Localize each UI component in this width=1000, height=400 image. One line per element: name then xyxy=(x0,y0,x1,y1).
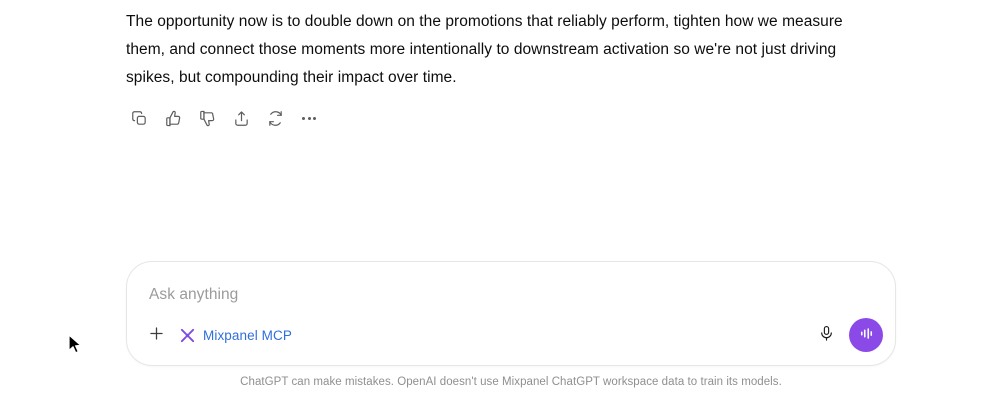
share-icon xyxy=(233,110,250,127)
regenerate-icon xyxy=(267,110,284,127)
composer-right-controls xyxy=(812,318,883,352)
thumbs-down-icon xyxy=(199,110,216,127)
voice-mode-button[interactable] xyxy=(849,318,883,352)
composer-left-controls: Mixpanel MCP xyxy=(141,320,300,350)
plus-icon xyxy=(147,324,166,346)
share-button[interactable] xyxy=(228,105,254,131)
footer-disclaimer: ChatGPT can make mistakes. OpenAI doesn'… xyxy=(126,376,896,388)
connector-chip-label: Mixpanel MCP xyxy=(203,328,292,343)
more-options-button[interactable] xyxy=(296,105,322,131)
mouse-cursor-icon xyxy=(68,334,84,356)
composer-toolbar: Mixpanel MCP xyxy=(141,315,883,355)
assistant-message: The opportunity now is to double down on… xyxy=(126,8,886,92)
mixpanel-logo-icon xyxy=(179,327,196,344)
microphone-icon xyxy=(818,325,835,345)
copy-button[interactable] xyxy=(126,105,152,131)
add-attachment-button[interactable] xyxy=(141,320,171,350)
assistant-message-text: The opportunity now is to double down on… xyxy=(126,8,886,92)
connector-chip-mixpanel-mcp[interactable]: Mixpanel MCP xyxy=(175,323,300,348)
composer-input-row: Ask anything xyxy=(149,284,873,306)
ellipsis-icon xyxy=(302,117,316,120)
message-action-toolbar xyxy=(126,105,322,131)
regenerate-button[interactable] xyxy=(262,105,288,131)
thumbs-up-icon xyxy=(165,110,182,127)
thumbs-down-button[interactable] xyxy=(194,105,220,131)
copy-icon xyxy=(131,110,148,127)
waveform-icon xyxy=(857,324,876,346)
dictate-button[interactable] xyxy=(812,321,840,349)
thumbs-up-button[interactable] xyxy=(160,105,186,131)
composer[interactable]: Ask anything xyxy=(126,261,896,366)
composer-input[interactable]: Ask anything xyxy=(149,284,873,306)
